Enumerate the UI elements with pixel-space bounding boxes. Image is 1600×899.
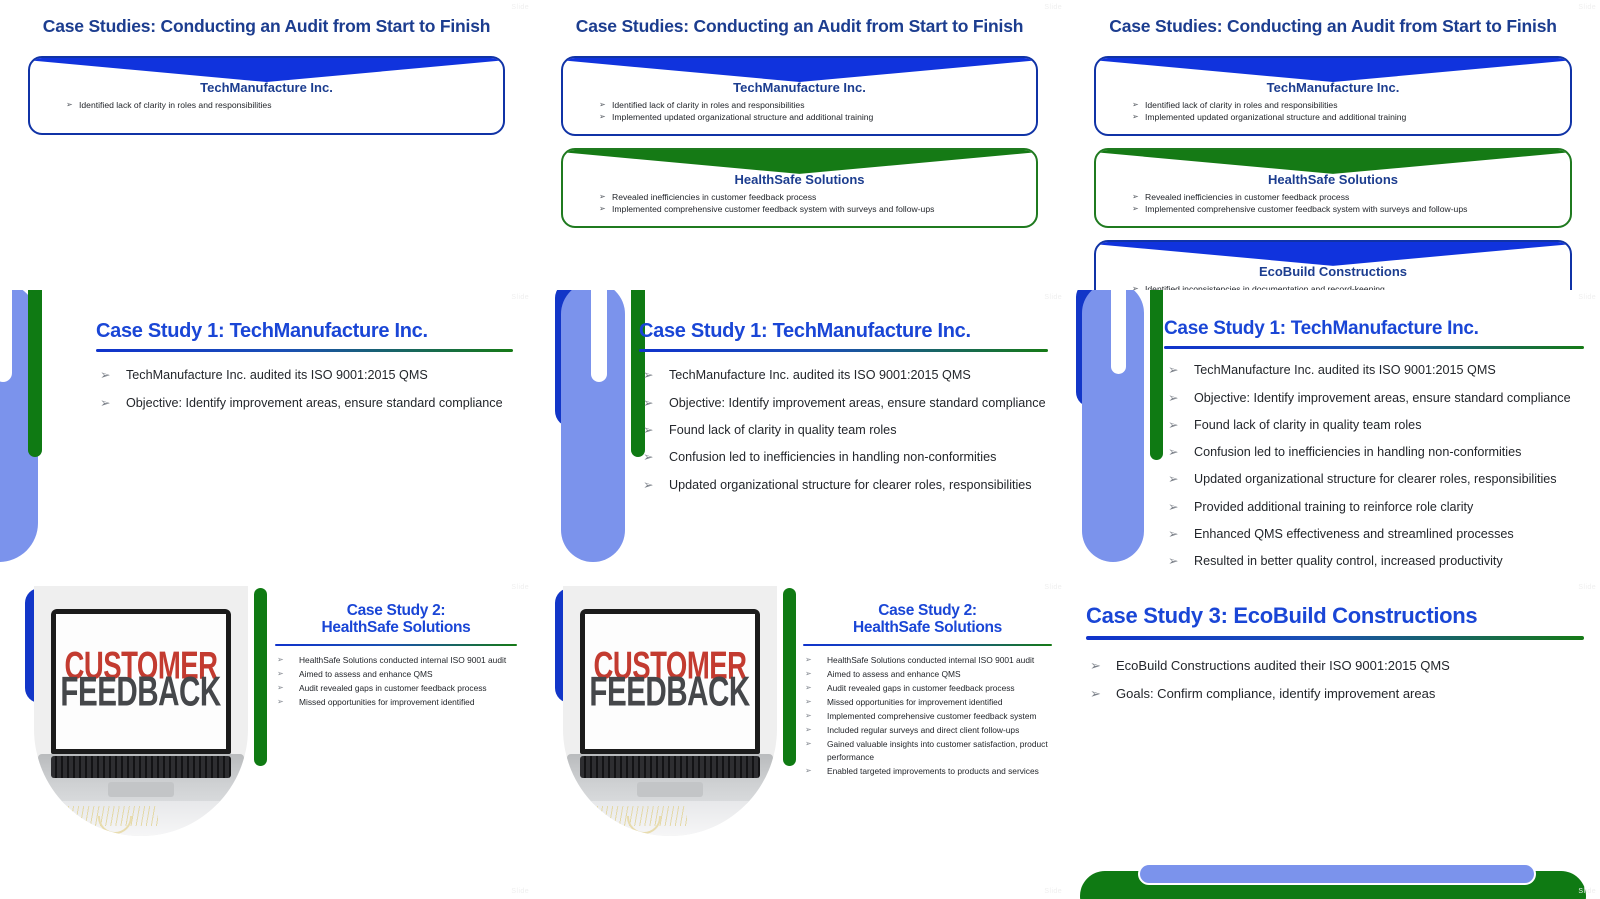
list-item: Enabled targeted improvements to product… — [803, 765, 1052, 778]
list-item: Objective: Identify improvement areas, e… — [639, 392, 1048, 415]
slide-bullets: HealthSafe Solutions conducted internal … — [275, 654, 517, 709]
list-item: Identified lack of clarity in roles and … — [1132, 99, 1570, 111]
slide-thumbnail-grid: Case Studies: Conducting an Audit from S… — [0, 0, 1600, 899]
company-card-list: TechManufacture Inc. Identified lack of … — [28, 56, 505, 147]
decorative-bar-green — [28, 290, 42, 457]
company-card-techmanufacture[interactable]: TechManufacture Inc. Identified lack of … — [561, 56, 1038, 136]
slide-bullets: HealthSafe Solutions conducted internal … — [803, 654, 1052, 778]
laptop-keyboard — [580, 756, 761, 779]
slide-watermark: Slide — [1044, 584, 1062, 591]
laptop-base — [567, 754, 772, 804]
list-item: Goals: Confirm compliance, identify impr… — [1086, 682, 1584, 706]
company-card-title: HealthSafe Solutions — [563, 172, 1036, 187]
decorative-bar-green — [783, 588, 796, 766]
company-card-list: TechManufacture Inc. Identified lack of … — [1094, 56, 1572, 290]
slide-watermark: Slide — [511, 584, 529, 591]
list-item: Found lack of clarity in quality team ro… — [639, 419, 1048, 442]
slide-bullets: TechManufacture Inc. audited its ISO 900… — [639, 364, 1048, 496]
slide-title: Case Studies: Conducting an Audit from S… — [0, 16, 533, 37]
list-item: Gained valuable insights into customer s… — [803, 738, 1052, 764]
list-item: Objective: Identify improvement areas, e… — [1164, 387, 1584, 410]
slide-title: Case Studies: Conducting an Audit from S… — [1066, 16, 1600, 37]
company-card-healthsafe[interactable]: HealthSafe Solutions Revealed inefficien… — [1094, 148, 1572, 228]
photo-text-line-2: FEEDBACK — [590, 674, 750, 714]
customer-feedback-photo: CUSTOMER FEEDBACK — [563, 586, 777, 836]
list-item: Audit revealed gaps in customer feedback… — [275, 682, 517, 695]
card-wedge-decoration — [563, 150, 1036, 174]
heading-rule — [96, 349, 513, 352]
slide-watermark: Slide — [1578, 584, 1596, 591]
slide-bullets: EcoBuild Constructions audited their ISO… — [1086, 654, 1584, 706]
slide-watermark: Slide — [511, 888, 529, 895]
slide-watermark: Slide — [511, 294, 529, 301]
decorative-bar-motif — [0, 290, 90, 580]
slide-watermark: Slide — [1044, 294, 1062, 301]
company-card-bullets: Identified lack of clarity in roles and … — [1096, 99, 1570, 124]
list-item: Confusion led to inefficiencies in handl… — [639, 446, 1048, 469]
decorative-bar-green — [1150, 290, 1163, 460]
list-item: TechManufacture Inc. audited its ISO 900… — [1164, 359, 1584, 382]
company-card-title: EcoBuild Constructions — [1096, 264, 1570, 279]
heading-rule — [1086, 636, 1584, 640]
card-wedge-decoration — [1096, 150, 1570, 174]
laptop-trackpad — [637, 782, 703, 797]
list-item: Revealed inefficiencies in customer feed… — [599, 191, 1036, 203]
slide-6-case-study-1-build-3[interactable]: Case Study 1: TechManufacture Inc. TechM… — [1066, 290, 1600, 580]
slide-watermark: Slide — [1044, 4, 1062, 11]
company-card-techmanufacture[interactable]: TechManufacture Inc. Identified lack of … — [28, 56, 505, 135]
slide-watermark: Slide — [511, 4, 529, 11]
list-item: HealthSafe Solutions conducted internal … — [275, 654, 517, 667]
list-item: TechManufacture Inc. audited its ISO 900… — [96, 364, 513, 387]
company-card-title: TechManufacture Inc. — [30, 80, 503, 95]
slide-heading: Case Study 1: TechManufacture Inc. — [639, 320, 1048, 342]
card-wedge-decoration — [563, 58, 1036, 82]
laptop-screen: CUSTOMER FEEDBACK — [585, 614, 755, 749]
decorative-bar-notch — [1111, 290, 1126, 374]
list-item: Identified lack of clarity in roles and … — [66, 99, 503, 111]
list-item: Aimed to assess and enhance QMS — [275, 668, 517, 681]
list-item: Confusion led to inefficiencies in handl… — [1164, 441, 1584, 464]
company-card-list: TechManufacture Inc. Identified lack of … — [561, 56, 1038, 240]
company-card-techmanufacture[interactable]: TechManufacture Inc. Identified lack of … — [1094, 56, 1572, 136]
slide-bullets: TechManufacture Inc. audited its ISO 900… — [96, 364, 513, 415]
slide-heading-line-2: HealthSafe Solutions — [803, 619, 1052, 636]
laptop-trackpad — [108, 782, 174, 797]
card-wedge-decoration — [1096, 58, 1570, 82]
company-card-bullets: Revealed inefficiencies in customer feed… — [563, 191, 1036, 216]
decorative-bar-notch — [0, 290, 12, 382]
list-item: Included regular surveys and direct clie… — [803, 724, 1052, 737]
list-item: Implemented updated organizational struc… — [1132, 111, 1570, 123]
list-item: Updated organizational structure for cle… — [639, 474, 1048, 497]
customer-feedback-photo: CUSTOMER FEEDBACK — [34, 586, 248, 836]
company-card-bullets: Revealed inefficiencies in customer feed… — [1096, 191, 1570, 216]
slide-5-case-study-1-build-2[interactable]: Case Study 1: TechManufacture Inc. TechM… — [533, 290, 1066, 580]
company-card-title: TechManufacture Inc. — [563, 80, 1036, 95]
list-item: Audit revealed gaps in customer feedback… — [803, 682, 1052, 695]
heading-rule — [803, 644, 1052, 646]
heading-rule — [275, 644, 517, 646]
list-item: Implemented comprehensive customer feedb… — [599, 203, 1036, 215]
slide-bullets: TechManufacture Inc. audited its ISO 900… — [1164, 359, 1584, 573]
list-item: Found lack of clarity in quality team ro… — [1164, 414, 1584, 437]
list-item: Identified inconsistencies in documentat… — [1132, 283, 1570, 290]
heading-rule — [1164, 346, 1584, 349]
slide-watermark: Slide — [1578, 294, 1596, 301]
slide-7-case-study-2-build-1[interactable]: CUSTOMER FEEDBACK Case Study 2: HealthSa… — [0, 580, 533, 899]
list-item: Identified lack of clarity in roles and … — [599, 99, 1036, 111]
list-item: Implemented comprehensive customer feedb… — [1132, 203, 1570, 215]
laptop-lid: CUSTOMER FEEDBACK — [580, 609, 760, 754]
slide-heading: Case Study 1: TechManufacture Inc. — [1164, 318, 1584, 339]
slide-heading-line-1: Case Study 2: — [803, 602, 1052, 619]
photo-text-line-2: FEEDBACK — [61, 674, 221, 714]
decorative-hbar-periwinkle — [1138, 863, 1536, 885]
card-wedge-decoration — [30, 58, 503, 82]
slide-watermark: Slide — [1578, 888, 1596, 895]
list-item: Implemented comprehensive customer feedb… — [803, 710, 1052, 723]
card-wedge-decoration — [1096, 242, 1570, 266]
list-item: Implemented updated organizational struc… — [599, 111, 1036, 123]
company-card-bullets: Identified inconsistencies in documentat… — [1096, 283, 1570, 290]
slide-9-case-study-3[interactable]: Case Study 3: EcoBuild Constructions Eco… — [1066, 580, 1600, 899]
laptop-keyboard — [51, 756, 232, 779]
decorative-bar-green — [254, 588, 267, 766]
list-item: Enhanced QMS effectiveness and streamlin… — [1164, 523, 1584, 546]
slide-watermark: Slide — [1578, 4, 1596, 11]
slide-2-case-studies-build-2[interactable]: Case Studies: Conducting an Audit from S… — [533, 0, 1066, 290]
laptop-base — [38, 754, 243, 804]
slide-watermark: Slide — [1044, 888, 1062, 895]
slide-heading: Case Study 3: EcoBuild Constructions — [1086, 604, 1584, 629]
slide-heading-line-1: Case Study 2: — [275, 602, 517, 619]
list-item: Missed opportunities for improvement ide… — [803, 696, 1052, 709]
list-item: HealthSafe Solutions conducted internal … — [803, 654, 1052, 667]
list-item: Revealed inefficiencies in customer feed… — [1132, 191, 1570, 203]
slide-title: Case Studies: Conducting an Audit from S… — [533, 16, 1066, 37]
list-item: TechManufacture Inc. audited its ISO 900… — [639, 364, 1048, 387]
slide-3-case-studies-build-3[interactable]: Case Studies: Conducting an Audit from S… — [1066, 0, 1600, 290]
list-item: Objective: Identify improvement areas, e… — [96, 392, 513, 415]
list-item: Aimed to assess and enhance QMS — [803, 668, 1052, 681]
heading-rule — [639, 349, 1048, 352]
list-item: EcoBuild Constructions audited their ISO… — [1086, 654, 1584, 678]
laptop-lid: CUSTOMER FEEDBACK — [51, 609, 231, 754]
list-item: Resulted in better quality control, incr… — [1164, 550, 1584, 573]
company-card-bullets: Identified lack of clarity in roles and … — [563, 99, 1036, 124]
company-card-ecobuild[interactable]: EcoBuild Constructions Identified incons… — [1094, 240, 1572, 290]
slide-heading: Case Study 1: TechManufacture Inc. — [96, 320, 513, 342]
slide-4-case-study-1-build-1[interactable]: Case Study 1: TechManufacture Inc. TechM… — [0, 290, 533, 580]
list-item: Missed opportunities for improvement ide… — [275, 696, 517, 709]
company-card-title: HealthSafe Solutions — [1096, 172, 1570, 187]
list-item: Updated organizational structure for cle… — [1164, 468, 1584, 491]
company-card-title: TechManufacture Inc. — [1096, 80, 1570, 95]
laptop-screen: CUSTOMER FEEDBACK — [56, 614, 226, 749]
slide-heading-line-2: HealthSafe Solutions — [275, 619, 517, 636]
slide-1-case-studies-build-1[interactable]: Case Studies: Conducting an Audit from S… — [0, 0, 533, 290]
company-card-healthsafe[interactable]: HealthSafe Solutions Revealed inefficien… — [561, 148, 1038, 228]
slide-8-case-study-2-build-2[interactable]: CUSTOMER FEEDBACK Case Study 2: HealthSa… — [533, 580, 1066, 899]
company-card-bullets: Identified lack of clarity in roles and … — [30, 99, 503, 111]
decorative-bar-notch — [591, 290, 607, 382]
list-item: Provided additional training to reinforc… — [1164, 496, 1584, 519]
